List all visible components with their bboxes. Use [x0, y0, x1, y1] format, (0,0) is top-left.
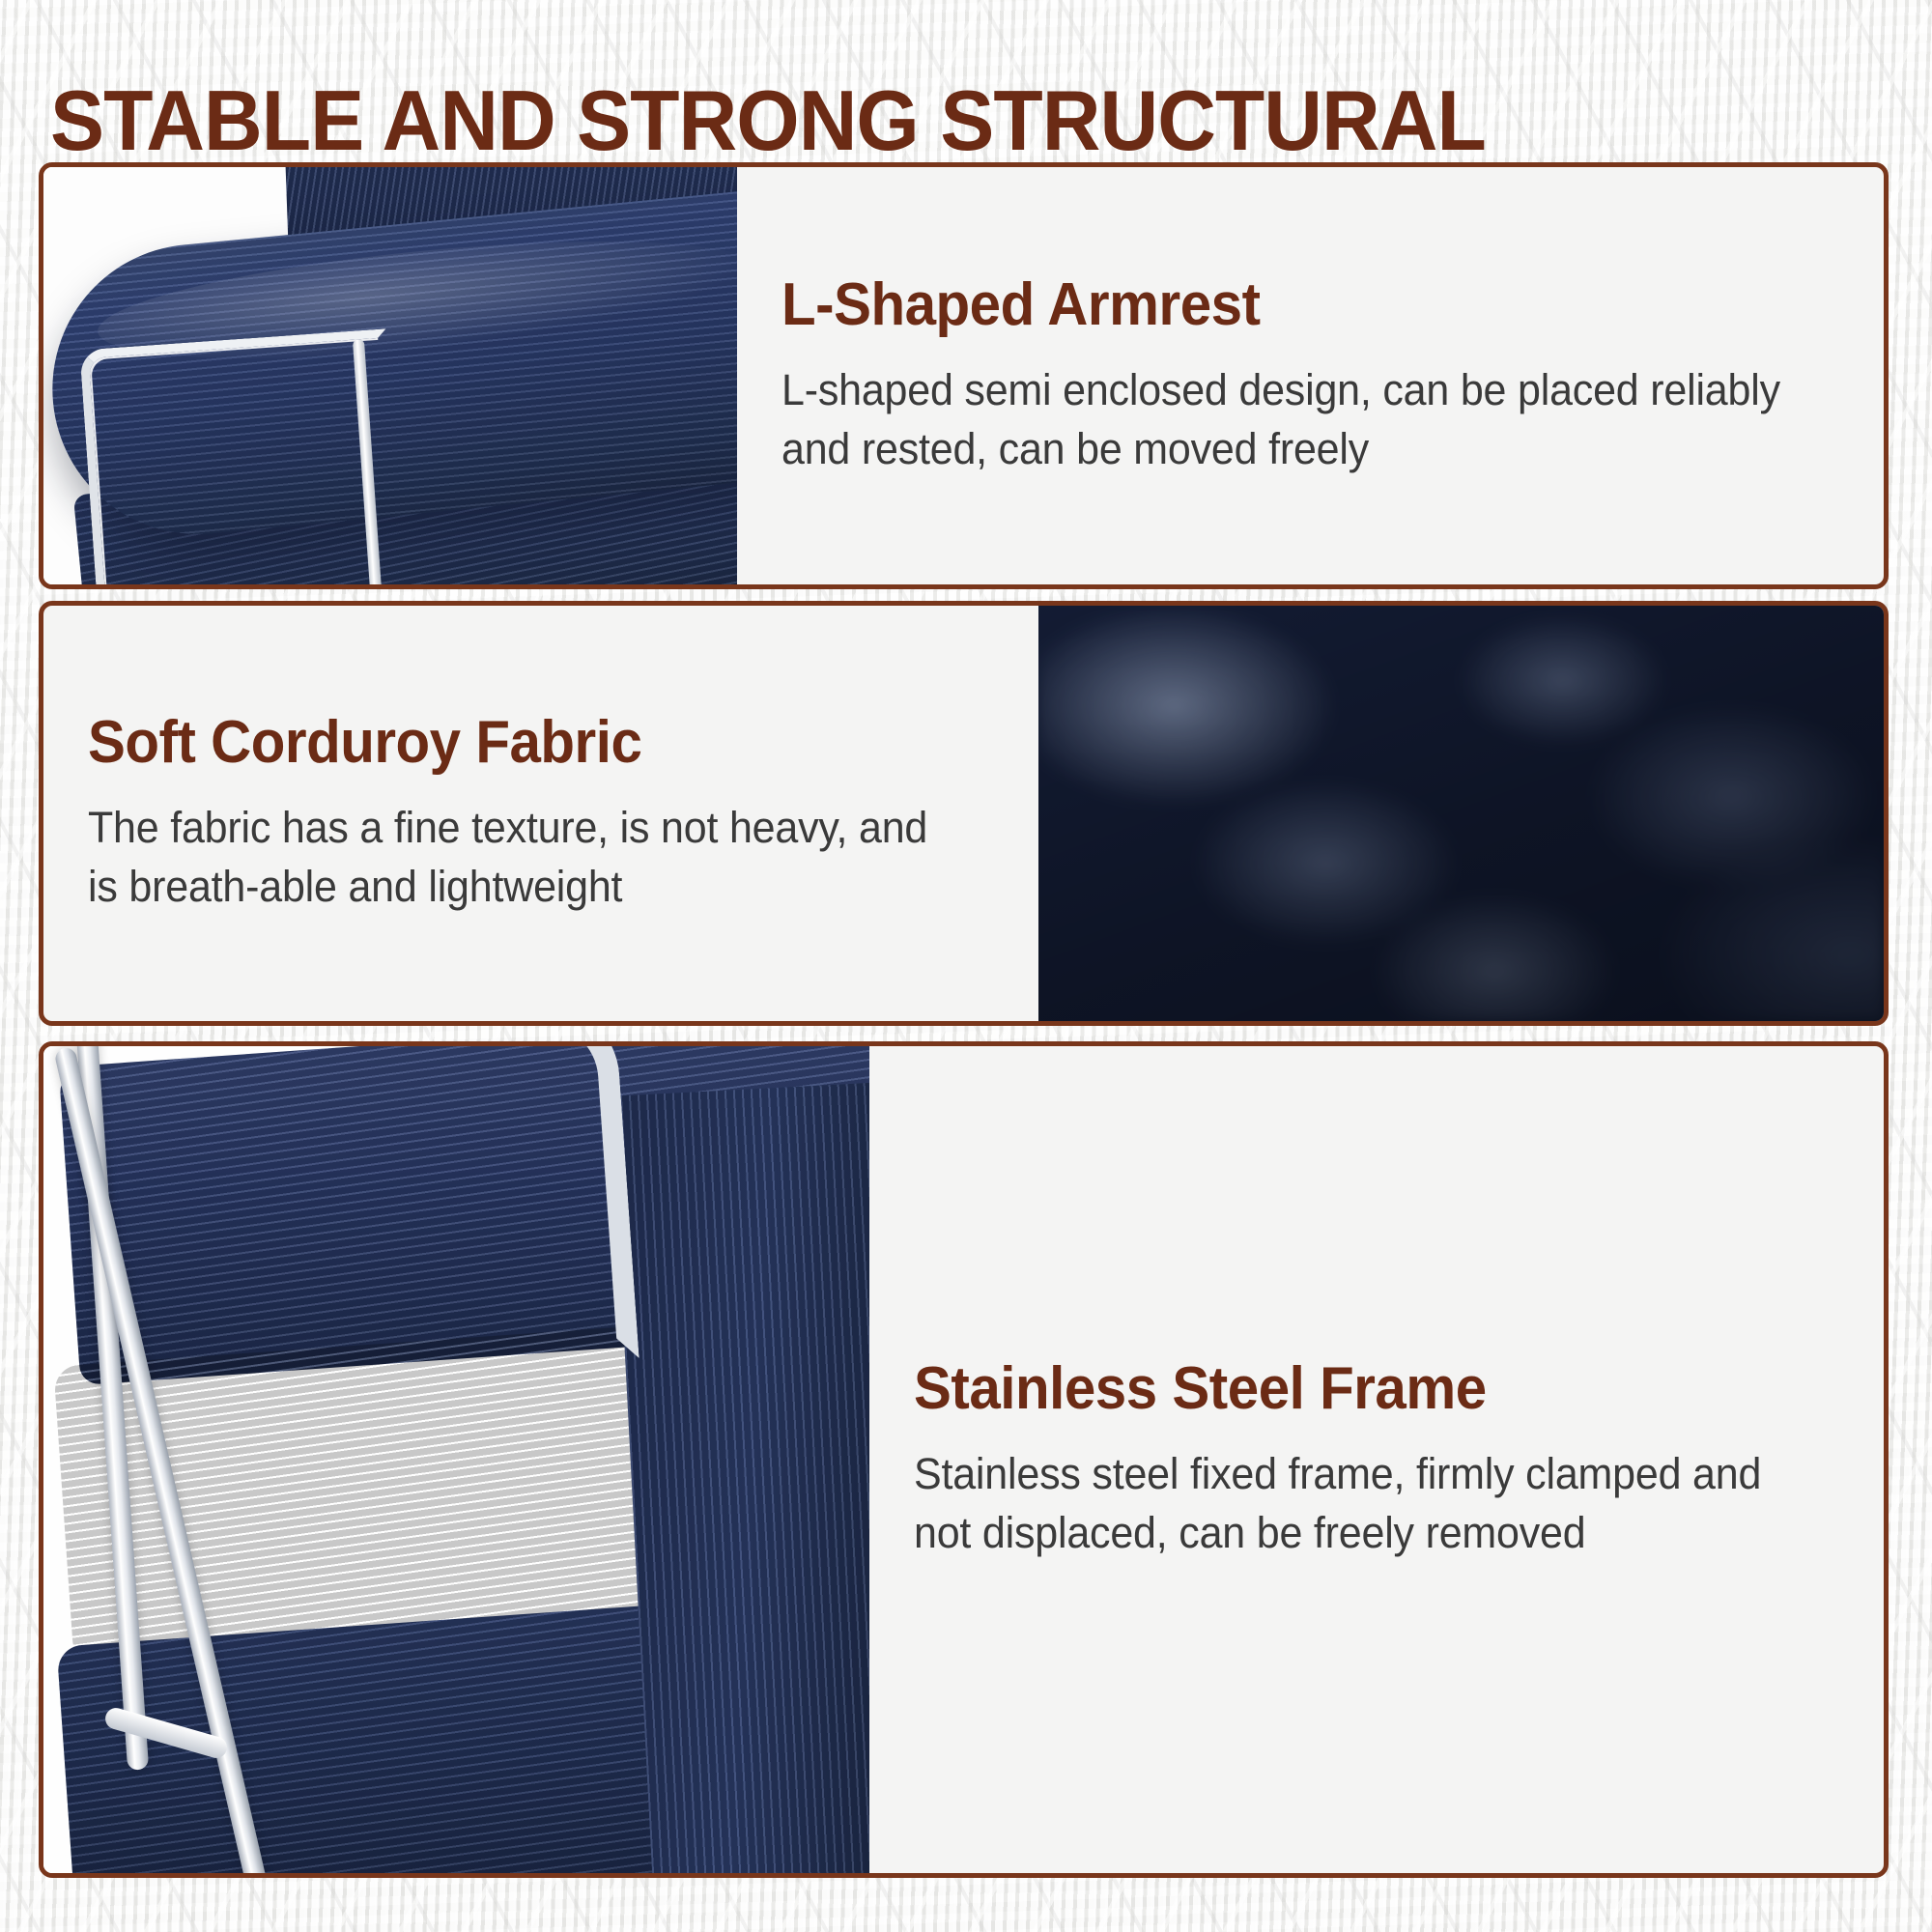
armrest-illustration	[43, 167, 737, 584]
feature-body: The fabric has a fine texture, is not he…	[88, 799, 953, 916]
armrest-copy: L-Shaped Armrest L-shaped semi enclosed …	[737, 167, 1884, 584]
armrest-photo	[43, 167, 737, 584]
frame-copy: Stainless Steel Frame Stainless steel fi…	[869, 1046, 1884, 1873]
fabric-copy: Soft Corduroy Fabric The fabric has a fi…	[43, 606, 1038, 1021]
page-title: STABLE AND STRONG STRUCTURAL	[50, 78, 1804, 163]
feature-card-soft-corduroy-fabric: Soft Corduroy Fabric The fabric has a fi…	[39, 601, 1889, 1026]
sofa-side-face	[611, 1082, 869, 1873]
feature-title: Soft Corduroy Fabric	[88, 711, 940, 774]
feature-card-stainless-steel-frame: Stainless Steel Frame Stainless steel fi…	[39, 1041, 1889, 1878]
feature-body: L-shaped semi enclosed design, can be pl…	[781, 361, 1792, 478]
feature-card-l-shaped-armrest: L-Shaped Armrest L-shaped semi enclosed …	[39, 162, 1889, 589]
steel-frame-photo	[43, 1046, 869, 1873]
feature-title: L-Shaped Armrest	[781, 273, 1776, 336]
feature-body: Stainless steel fixed frame, firmly clam…	[914, 1445, 1798, 1562]
feature-title: Stainless Steel Frame	[914, 1357, 1784, 1420]
corduroy-rib-texture	[611, 1082, 869, 1873]
corduroy-macro-photo	[1038, 606, 1884, 1021]
steel-frame-corner	[321, 1046, 639, 1378]
infographic-page: STABLE AND STRONG STRUCTURAL L-Shaped Ar…	[0, 0, 1932, 1932]
fabric-shading	[1038, 606, 1884, 1021]
